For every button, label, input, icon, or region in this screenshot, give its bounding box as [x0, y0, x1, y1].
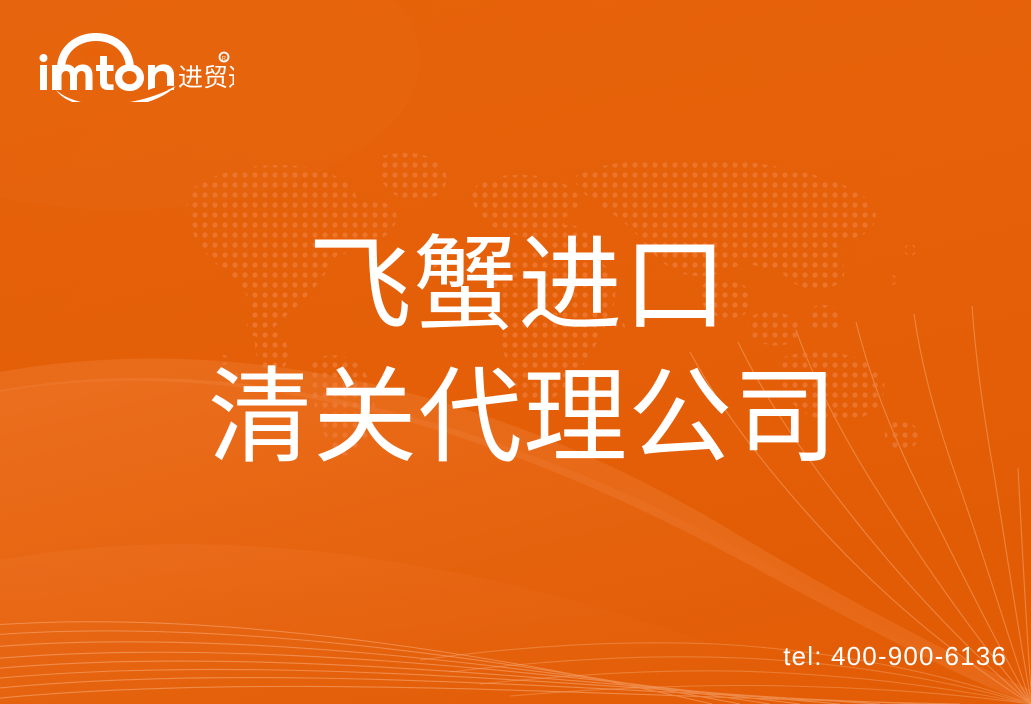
background-decor — [0, 0, 1031, 704]
svg-text:R: R — [222, 56, 226, 62]
headline-line-1: 飞蟹进口 — [308, 234, 728, 338]
globe-arc-icon — [57, 33, 134, 69]
logo-chinese-name: 进贸通 — [178, 64, 234, 92]
company-logo[interactable]: 进贸通 R — [34, 28, 234, 102]
promo-banner: 进贸通 R 飞蟹进口 清关代理公司 tel: 400-900-6136 — [0, 0, 1031, 704]
telephone-number[interactable]: tel: 400-900-6136 — [783, 641, 1007, 672]
registered-trademark-icon: R — [219, 52, 230, 63]
headline-line-2: 清关代理公司 — [208, 366, 838, 470]
